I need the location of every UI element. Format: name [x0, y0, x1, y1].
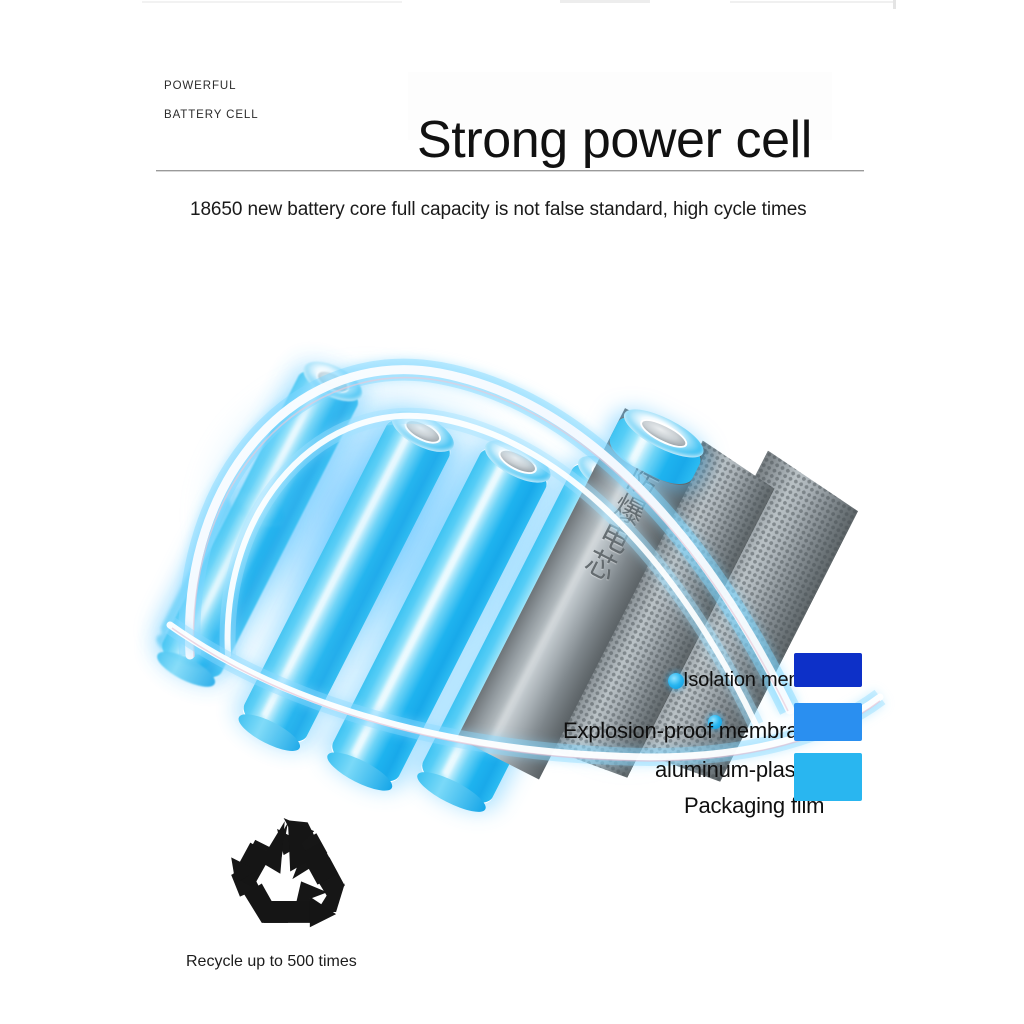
top-scan-artifact-tick: [893, 0, 896, 9]
top-scan-artifact-left: [142, 1, 402, 3]
product-illustration: 防爆电芯: [150, 325, 890, 835]
top-scan-artifact-mid: [560, 0, 650, 3]
page-subtitle: 18650 new battery core full capacity is …: [190, 199, 807, 221]
callout-label-explosion-proof-membrane: Explosion-proof membrane: [563, 718, 822, 744]
recycle-icon: [222, 818, 354, 936]
legend-swatch-isolation-membrane: [794, 653, 862, 687]
callout-dot-isolation-membrane: [668, 673, 684, 689]
top-scan-artifact-right: [730, 1, 895, 3]
recycle-caption: Recycle up to 500 times: [186, 953, 357, 971]
product-infographic-page: POWERFUL BATTERY CELL Strong power cell …: [0, 0, 1024, 1024]
legend-swatch-explosion-proof-membrane: [794, 703, 862, 741]
page-title: Strong power cell: [417, 109, 812, 171]
kicker-line-2: BATTERY CELL: [164, 109, 259, 121]
callout-label-aluminum-plastic: aluminum-plastic: [655, 757, 817, 783]
kicker-line-1: POWERFUL: [164, 80, 236, 92]
legend-swatch-aluminum-plastic: [794, 753, 862, 801]
recycle-block: Recycle up to 500 times: [186, 818, 426, 983]
header-divider-shadow: [156, 171, 864, 172]
